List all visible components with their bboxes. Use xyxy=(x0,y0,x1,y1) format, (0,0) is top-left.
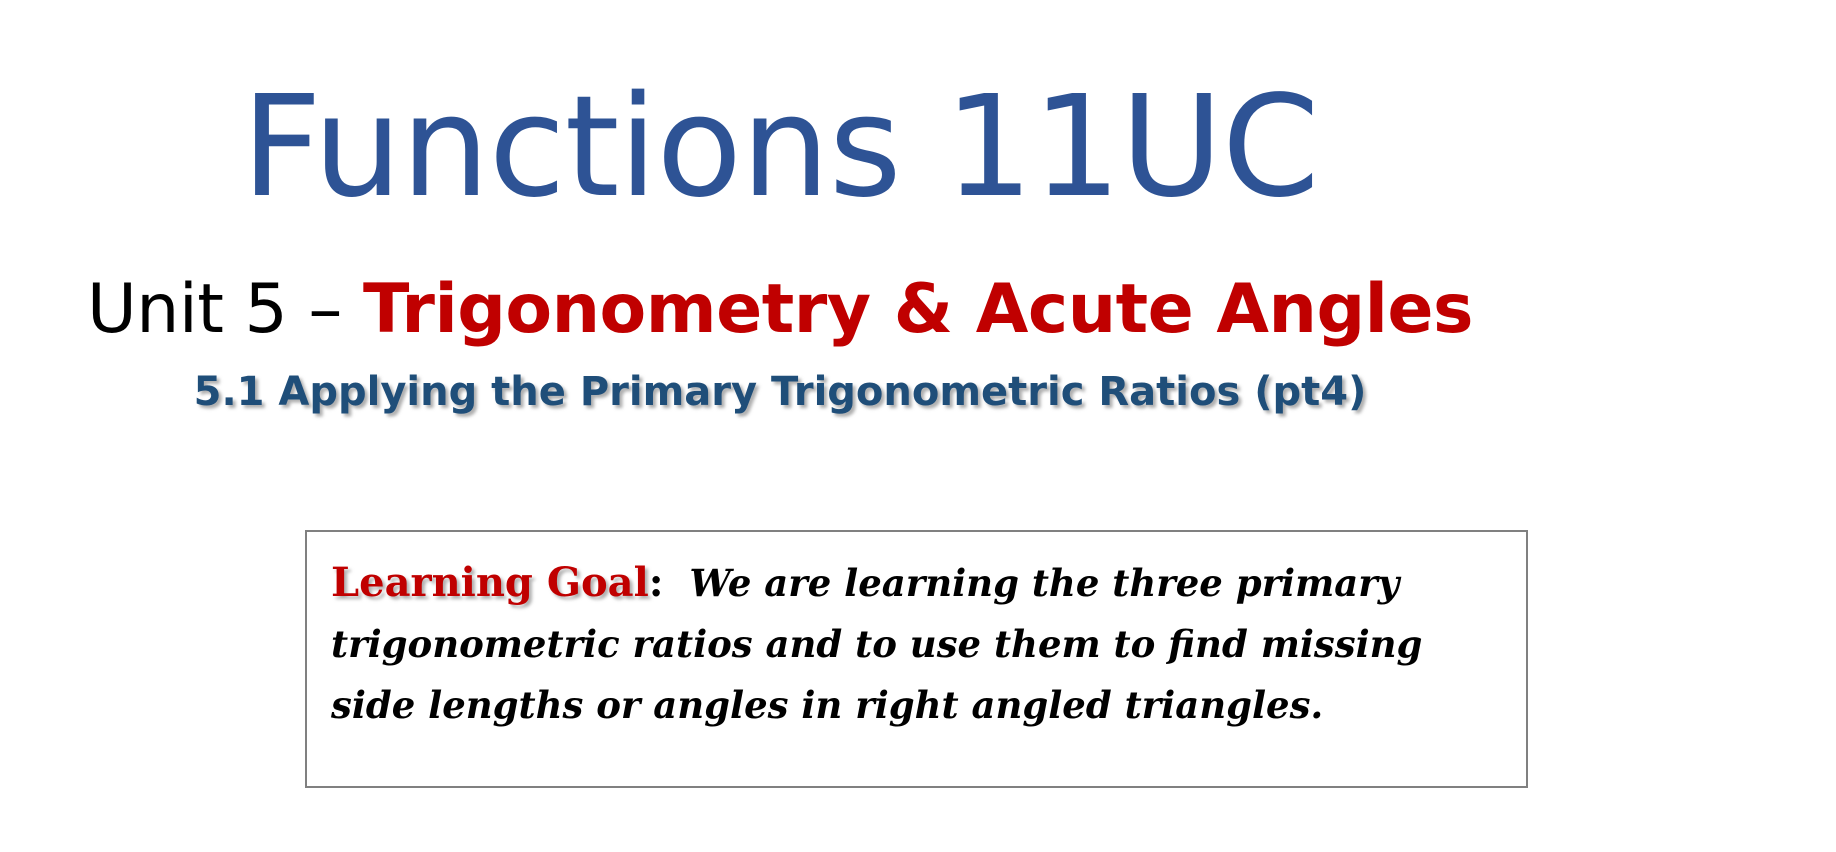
unit-number-label: Unit 5 – xyxy=(87,270,363,349)
page-title: Functions 11UC xyxy=(0,78,1560,218)
learning-goal-colon: : xyxy=(649,559,664,606)
learning-goal-label: Learning Goal xyxy=(331,559,649,606)
unit-heading: Unit 5 – Trigonometry & Acute Angles xyxy=(0,276,1560,344)
section-subtitle: 5.1 Applying the Primary Trigonometric R… xyxy=(0,372,1560,412)
learning-goal-box: Learning Goal: We are learning the three… xyxy=(305,530,1528,788)
slide-canvas: Functions 11UC Unit 5 – Trigonometry & A… xyxy=(0,0,1836,852)
learning-goal-text: Learning Goal: We are learning the three… xyxy=(331,552,1502,736)
unit-topic-label: Trigonometry & Acute Angles xyxy=(363,270,1473,349)
